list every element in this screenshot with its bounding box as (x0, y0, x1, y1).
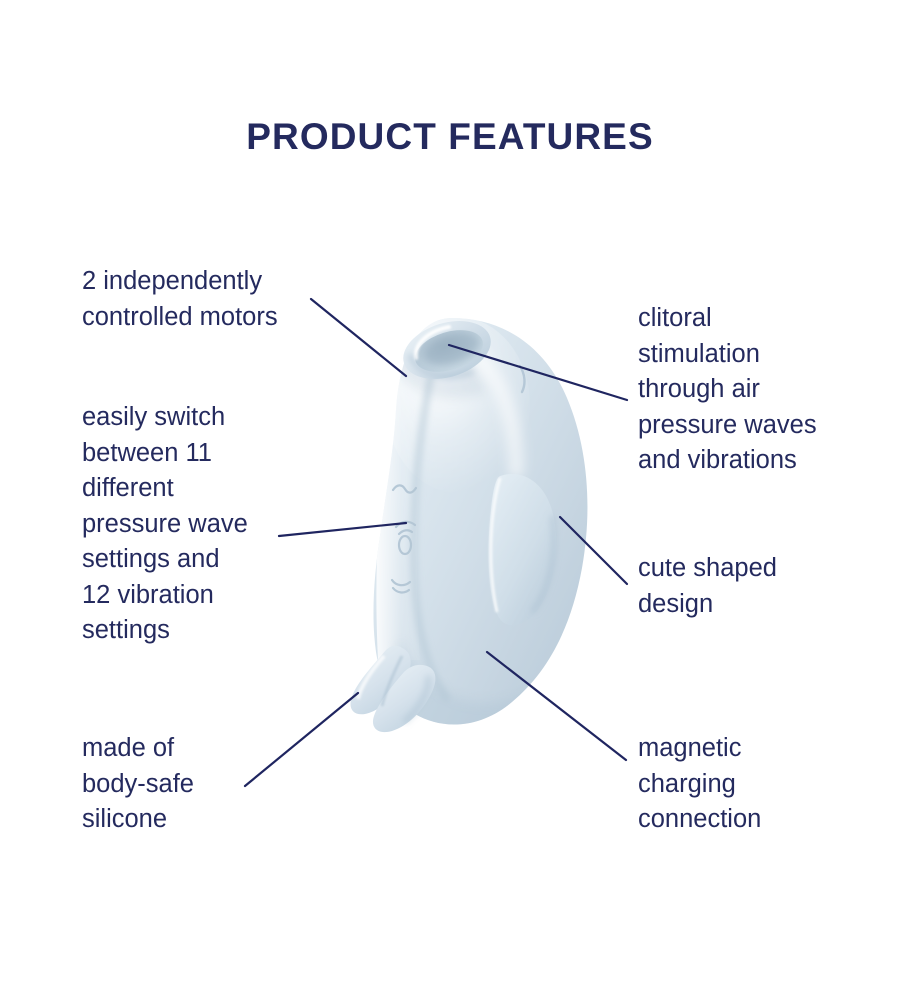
callout-label-cute: cute shaped design (638, 551, 868, 622)
callout-label-settings: easily switch between 11 different press… (82, 400, 318, 649)
callout-label-silicone: made of body-safe silicone (82, 731, 292, 838)
callout-label-motors: 2 independently controlled motors (82, 264, 334, 335)
product-features-infographic: PRODUCT FEATURES (0, 0, 900, 1000)
callout-label-magnetic: magnetic charging connection (638, 731, 868, 838)
callout-label-clitoral: clitoral stimulation through air pressur… (638, 301, 900, 479)
product-body-group (350, 310, 620, 760)
leader-line-magnetic (487, 652, 626, 760)
